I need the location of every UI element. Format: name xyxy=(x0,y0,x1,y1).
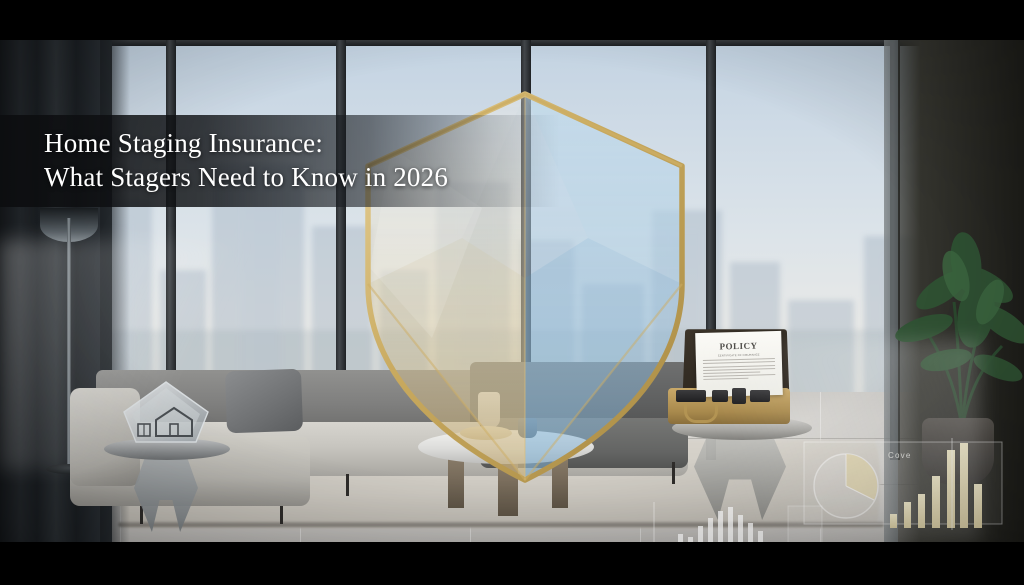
letterbox-bar-bottom xyxy=(0,542,1024,585)
decorative-bowl xyxy=(460,426,512,440)
sofa-cushion xyxy=(225,369,303,434)
letterbox-bar-top xyxy=(0,0,1024,40)
living-room-scene: POLICY CERTIFICATE OF INSURANCE xyxy=(0,40,1024,542)
briefcase-contents xyxy=(676,390,706,402)
window-transom xyxy=(0,40,1024,46)
briefcase-contents xyxy=(750,390,770,402)
policy-document-subheading: CERTIFICATE OF INSURANCE xyxy=(696,353,782,358)
title-line-1: Home Staging Insurance: xyxy=(44,126,448,160)
house-sculpture-icon xyxy=(118,378,214,450)
cup xyxy=(518,418,537,438)
page-title: Home Staging Insurance: What Stagers Nee… xyxy=(44,126,448,194)
plant-pot xyxy=(922,418,994,484)
coffee-table-leg xyxy=(498,458,518,516)
potted-plant xyxy=(880,218,1024,438)
title-line-2: What Stagers Need to Know in 2026 xyxy=(44,160,448,194)
vase xyxy=(478,392,500,428)
briefcase-contents xyxy=(732,388,746,404)
hero-image: POLICY CERTIFICATE OF INSURANCE xyxy=(0,0,1024,585)
briefcase-contents xyxy=(712,390,728,402)
briefcase-handle xyxy=(684,404,718,423)
policy-document-heading: POLICY xyxy=(695,340,781,352)
rug-edge xyxy=(118,522,884,527)
